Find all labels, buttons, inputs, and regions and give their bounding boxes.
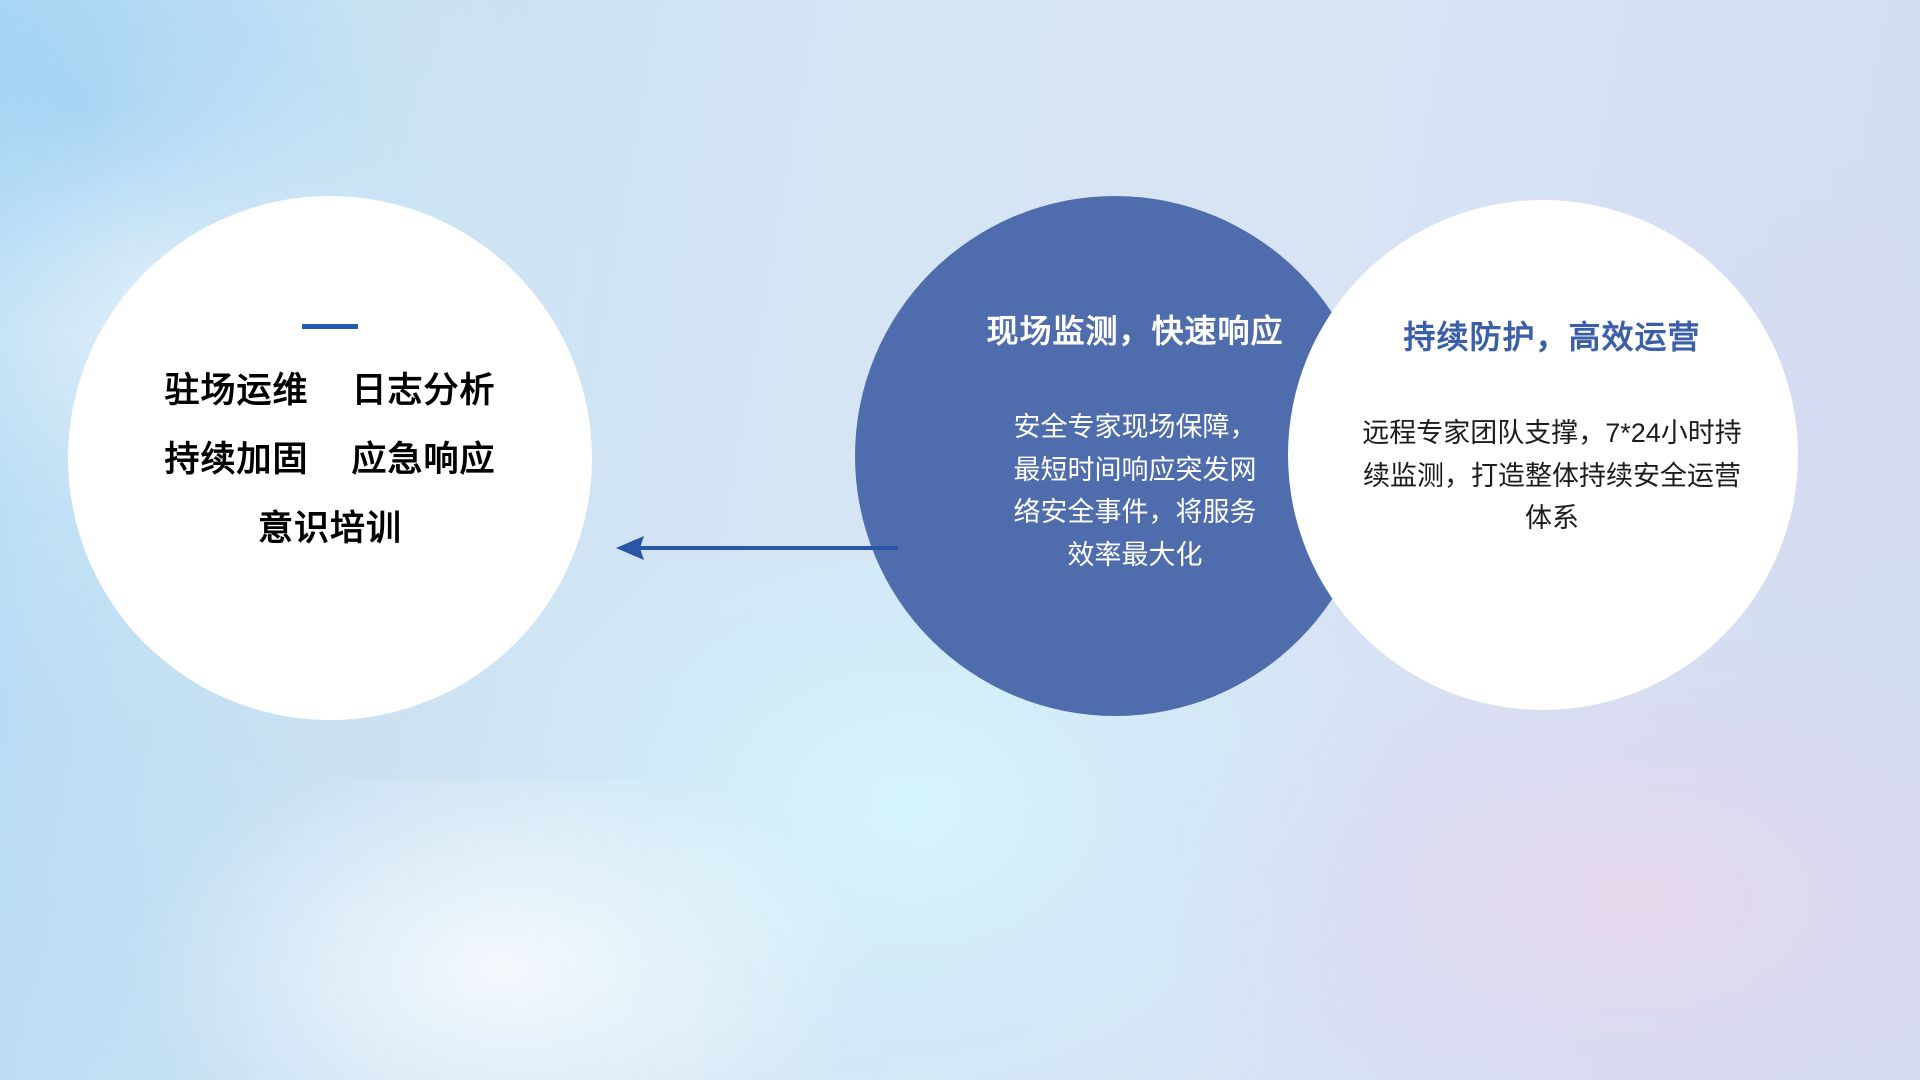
left-circle-line-2: 持续加固 应急响应 — [165, 442, 496, 477]
left-circle-content: 驻场运维 日志分析 持续加固 应急响应 意识培训 — [68, 196, 592, 720]
left-circle-line-1: 驻场运维 日志分析 — [165, 373, 496, 408]
left-circle-line-3: 意识培训 — [258, 511, 402, 546]
slide-canvas: 驻场运维 日志分析 持续加固 应急响应 意识培训 现场监测，快速响应 安全专家现… — [0, 0, 1920, 1080]
right-circle-body: 远程专家团队支撑，7*24小时持续监测，打造整体持续安全运营体系 — [1352, 412, 1752, 540]
middle-circle-title: 现场监测，快速响应 — [986, 306, 1283, 352]
background-glow-white-bottom — [120, 780, 880, 1080]
right-circle-title: 持续防护，高效运营 — [1403, 312, 1700, 358]
right-circle-content: 持续防护，高效运营 远程专家团队支撑，7*24小时持续监测，打造整体持续安全运营… — [1288, 200, 1798, 710]
middle-circle-body: 安全专家现场保障，最短时间响应突发网络安全事件，将服务效率最大化 — [1003, 406, 1268, 577]
left-circle-divider — [302, 324, 358, 329]
